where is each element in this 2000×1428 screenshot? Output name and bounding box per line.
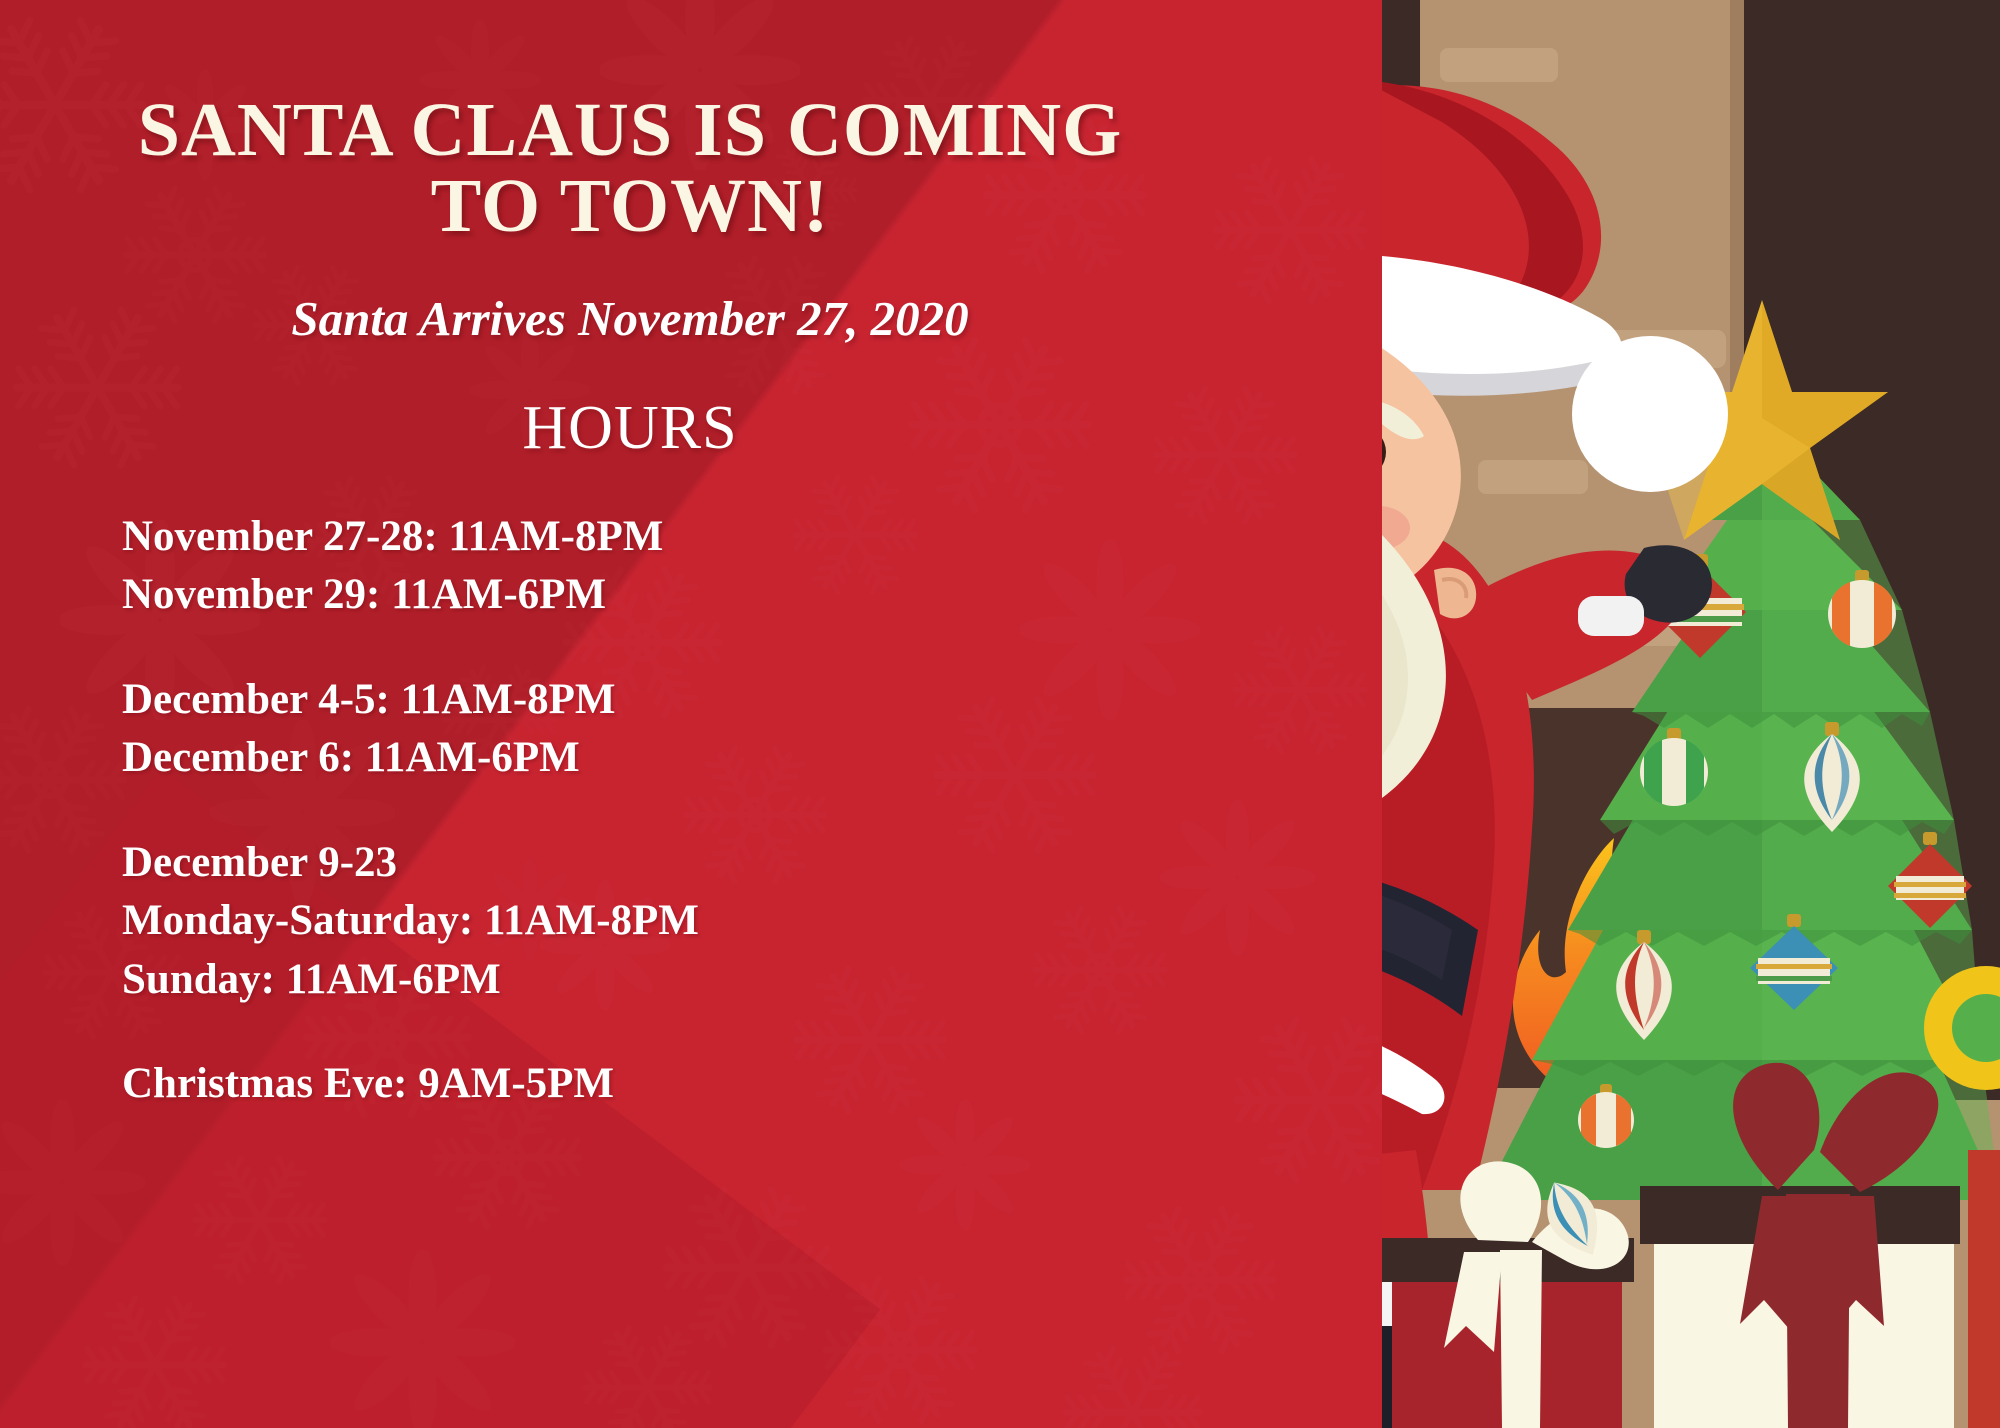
hours-group: December 4-5: 11AM-8PM December 6: 11AM-… xyxy=(122,671,1200,788)
hours-line: November 29: 11AM-6PM xyxy=(122,566,1200,624)
gift-box-red-edge xyxy=(1968,1150,2000,1428)
left-red-panel: SANTA CLAUS IS COMING TO TOWN! Santa Arr… xyxy=(0,0,1382,1428)
santa-pompom xyxy=(1572,336,1728,492)
santa-hours-poster: SANTA CLAUS IS COMING TO TOWN! Santa Arr… xyxy=(0,0,2000,1428)
hours-line: December 6: 11AM-6PM xyxy=(122,729,1200,787)
hours-line: December 9-23 xyxy=(122,834,1200,892)
hours-heading: HOURS xyxy=(60,393,1200,464)
santa-cuff xyxy=(1578,596,1644,636)
hours-line: Christmas Eve: 9AM-5PM xyxy=(122,1055,1200,1113)
hours-line: November 27-28: 11AM-8PM xyxy=(122,508,1200,566)
santa-illustration xyxy=(1382,0,2000,1428)
hours-line: Sunday: 11AM-6PM xyxy=(122,951,1200,1009)
hours-group: Christmas Eve: 9AM-5PM xyxy=(122,1055,1200,1113)
hours-group: December 9-23 Monday-Saturday: 11AM-8PM … xyxy=(122,834,1200,1009)
brick-highlight xyxy=(1440,48,1558,82)
brick-highlight xyxy=(1478,460,1588,494)
gift-ribbon-loop-left xyxy=(1460,1161,1541,1242)
hours-line: December 4-5: 11AM-8PM xyxy=(122,671,1200,729)
page-title: SANTA CLAUS IS COMING TO TOWN! xyxy=(60,92,1200,244)
hours-list: November 27-28: 11AM-8PM November 29: 11… xyxy=(60,508,1200,1114)
arrival-subtitle: Santa Arrives November 27, 2020 xyxy=(60,290,1200,347)
hours-group: November 27-28: 11AM-8PM November 29: 11… xyxy=(122,508,1200,625)
hours-line: Monday-Saturday: 11AM-8PM xyxy=(122,892,1200,950)
poster-text-block: SANTA CLAUS IS COMING TO TOWN! Santa Arr… xyxy=(0,0,1260,1428)
